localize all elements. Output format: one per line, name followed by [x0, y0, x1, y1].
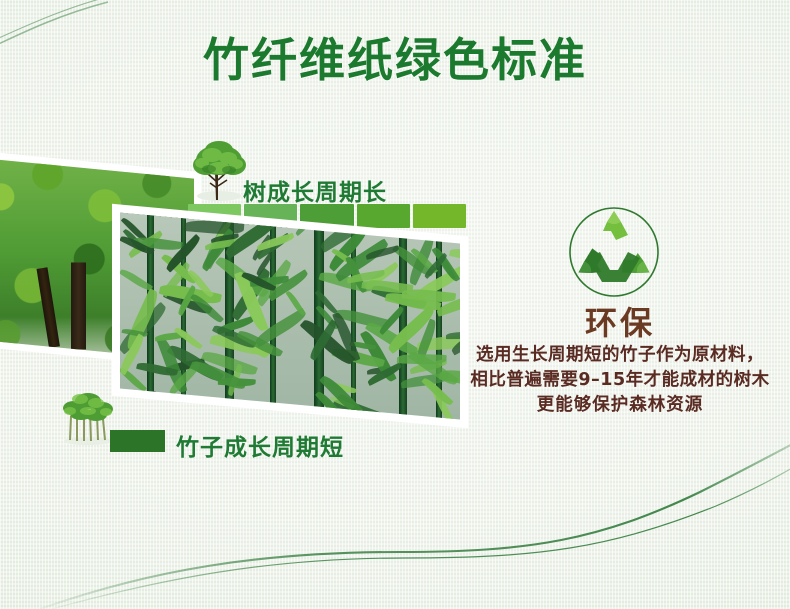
eco-heading: 环保 — [455, 298, 785, 344]
bamboo-grove-photo — [120, 213, 460, 420]
bamboo-leaf — [149, 389, 178, 419]
forest-photo-trunk-main — [71, 262, 86, 349]
tree-growth-label: 树成长周期长 — [243, 173, 387, 207]
bamboo-leaf — [397, 353, 447, 365]
eco-description: 选用生长周期短的竹子作为原材料， 相比普遍需要9–15年才能成材的树木 更能够保… — [452, 343, 788, 418]
eco-description-line: 选用生长周期短的竹子作为原材料， — [452, 343, 788, 368]
bottom-swoosh-a — [40, 440, 790, 609]
bamboo-growth-bar — [110, 430, 165, 452]
tree-bar-segment — [300, 204, 353, 228]
tree-bar-segment — [413, 204, 466, 228]
page-title: 竹纤维纸绿色标准 — [0, 24, 790, 90]
bamboo-growth-label: 竹子成长周期短 — [176, 428, 344, 462]
recycle-icon — [568, 206, 660, 298]
eco-description-line: 相比普遍需要9–15年才能成材的树木 — [452, 368, 788, 393]
eco-description-line: 更能够保护森林资源 — [452, 393, 788, 418]
tree-icon — [188, 138, 250, 208]
bottom-swoosh-b — [52, 460, 790, 609]
poster-canvas: 竹纤维纸绿色标准 树成长周期长 — [0, 0, 790, 609]
tree-bar-segment — [357, 204, 410, 228]
